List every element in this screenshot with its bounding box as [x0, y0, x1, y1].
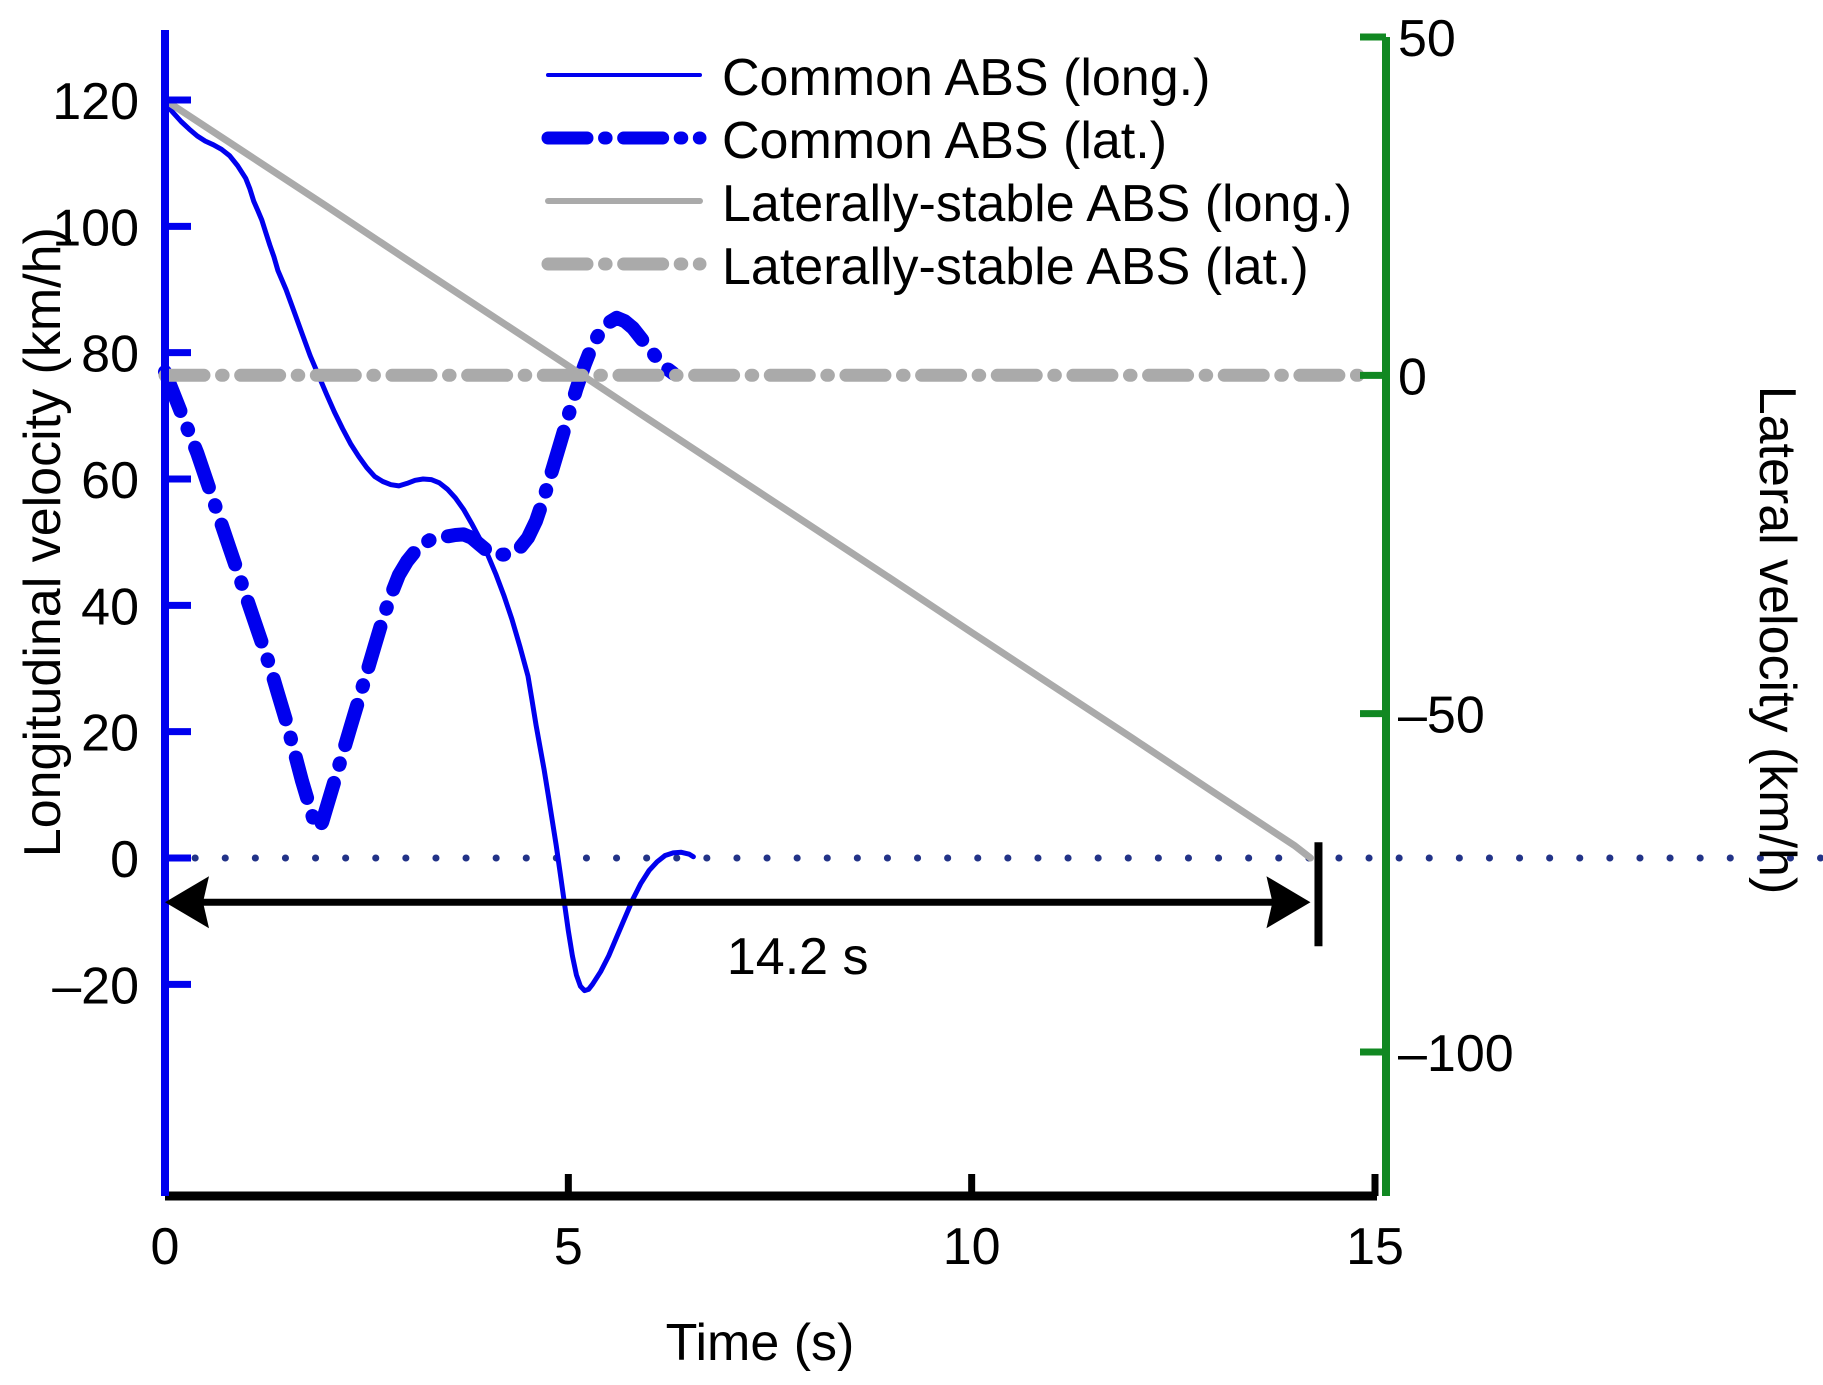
- y-tick-label: 40: [81, 578, 139, 636]
- series-1-dashdot: [165, 318, 673, 829]
- y-axis-title: Longitudinal velocity (km/h): [14, 227, 72, 857]
- y-tick-label: 80: [81, 326, 139, 384]
- x-axis-title: Time (s): [666, 1314, 855, 1372]
- y2-tick-label: –50: [1398, 687, 1485, 745]
- y-tick-label: –20: [52, 957, 139, 1015]
- legend-label-0: Common ABS (long.): [722, 49, 1210, 107]
- y2-tick-label: 0: [1398, 348, 1427, 406]
- y2-tick-label: 50: [1398, 10, 1456, 68]
- arrow-head-left: [165, 876, 209, 928]
- x-tick-label: 5: [554, 1218, 583, 1276]
- legend-label-1: Common ABS (lat.): [722, 112, 1167, 170]
- y-ticks: 020406080100120–20: [52, 73, 191, 1015]
- legend-label-3: Laterally-stable ABS (lat.): [722, 238, 1309, 296]
- x-tick-label: 15: [1346, 1218, 1404, 1276]
- legend: Common ABS (long.)Common ABS (lat.)Later…: [548, 49, 1352, 296]
- x-tick-label: 10: [943, 1218, 1001, 1276]
- stop-time-annotation: 14.2 s: [165, 842, 1318, 986]
- arrow-head-right: [1266, 876, 1310, 928]
- y-tick-label: 60: [81, 452, 139, 510]
- x-ticks: 051015: [151, 1174, 1404, 1276]
- legend-label-2: Laterally-stable ABS (long.): [722, 175, 1352, 233]
- y2-tick-label: –100: [1398, 1025, 1514, 1083]
- annotation-text: 14.2 s: [727, 928, 869, 986]
- x-tick-label: 0: [151, 1218, 180, 1276]
- y2-axis-title: Lateral velocity (km/h): [1748, 386, 1806, 895]
- y-tick-label: 20: [81, 705, 139, 763]
- chart-root: 051015020406080100120–20–100–50050Longit…: [0, 0, 1823, 1385]
- y-tick-label: 0: [110, 831, 139, 889]
- y-tick-label: 120: [52, 73, 139, 131]
- velocity-vs-time-chart: 051015020406080100120–20–100–50050Longit…: [0, 0, 1823, 1385]
